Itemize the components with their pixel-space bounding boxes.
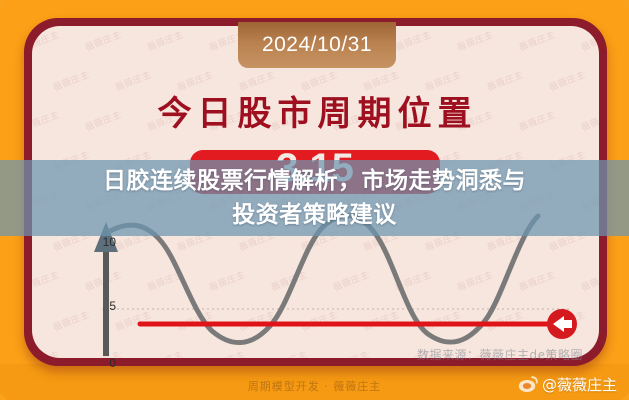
caption-line-1: 日胶连续股票行情解析，市场走势洞悉与 — [0, 164, 629, 198]
caption-line-2: 投资者策略建议 — [0, 198, 629, 232]
y-tick-10: 10 — [92, 235, 116, 249]
date-badge: 2024/10/31 — [238, 22, 396, 68]
source-note: 数据来源：薇薇庄主de策略圈 — [417, 346, 583, 363]
caption-text: 日胶连续股票行情解析，市场走势洞悉与 投资者策略建议 — [0, 164, 629, 232]
weibo-handle-text: @薇薇庄主 — [542, 374, 617, 395]
poster-root: 薇薇庄主薇薇庄主薇薇庄主薇薇庄主薇薇庄主薇薇庄主薇薇庄主薇薇庄主薇薇庄主薇薇庄主… — [0, 0, 629, 400]
weibo-icon — [518, 376, 538, 393]
y-tick-0: 0 — [92, 356, 116, 370]
weibo-attribution[interactable]: @薇薇庄主 — [518, 374, 617, 395]
y-tick-5: 5 — [92, 299, 116, 313]
page-title: 今日股市周期位置 — [0, 86, 629, 135]
